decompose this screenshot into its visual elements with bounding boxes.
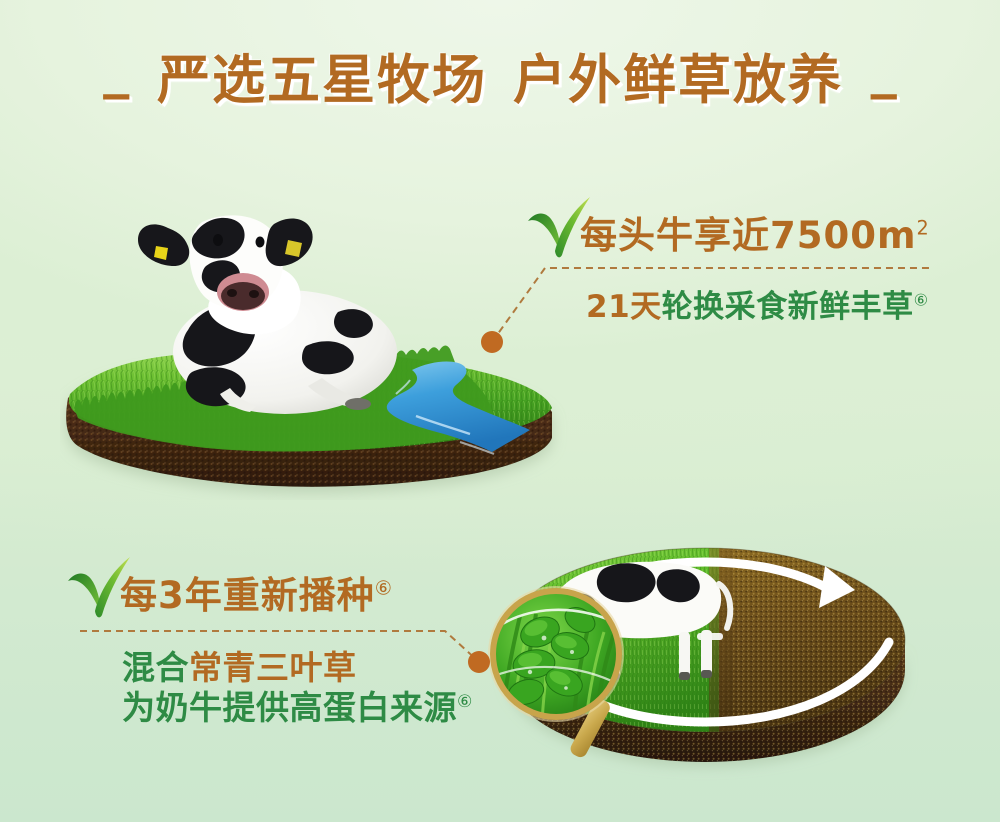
callout-top-headline-superscript: 2 <box>917 217 930 240</box>
callout-bottom-headline-text: 每3年重新播种 <box>120 574 375 617</box>
callout-top-sub: 21天轮换采食新鲜丰草⑥ <box>586 281 929 326</box>
callout-top-headline-text: 每头牛享近7500m <box>580 214 917 257</box>
callout-bottom-sub-line2-footnote: ⑥ <box>457 692 473 712</box>
callout-bottom-sub-line2-text: 为奶牛提供高蛋白来源 <box>122 688 457 727</box>
promo-page: –严选五星牧场户外鲜草放养– <box>0 0 1000 822</box>
title-dash-right: – <box>869 63 898 124</box>
callout-top-sub-rest: 轮换采食新鲜丰草 <box>662 289 914 325</box>
callout-bottom-headline-footnote: ⑥ <box>375 577 393 600</box>
title-dash-left: – <box>102 63 131 124</box>
callout-top-headline: 每头牛享近7500m2 <box>580 205 930 259</box>
title-text-part1: 严选五星牧场 <box>157 38 487 114</box>
page-title: –严选五星牧场户外鲜草放养– <box>0 38 1000 124</box>
cow-pasture-svg <box>60 180 580 500</box>
callout-bottom-headline: 每3年重新播种⑥ <box>120 565 393 619</box>
magnifier-svg <box>478 580 678 780</box>
clover-magnifier <box>478 580 678 780</box>
cow-pasture-illustration <box>60 180 580 500</box>
title-text-part2: 户外鲜草放养 <box>513 38 843 114</box>
callout-top-sub-footnote: ⑥ <box>914 291 929 310</box>
callout-top-sub-prefix: 21天 <box>586 289 662 325</box>
callout-bottom-sub-line2: 为奶牛提供高蛋白来源⑥ <box>122 681 473 729</box>
